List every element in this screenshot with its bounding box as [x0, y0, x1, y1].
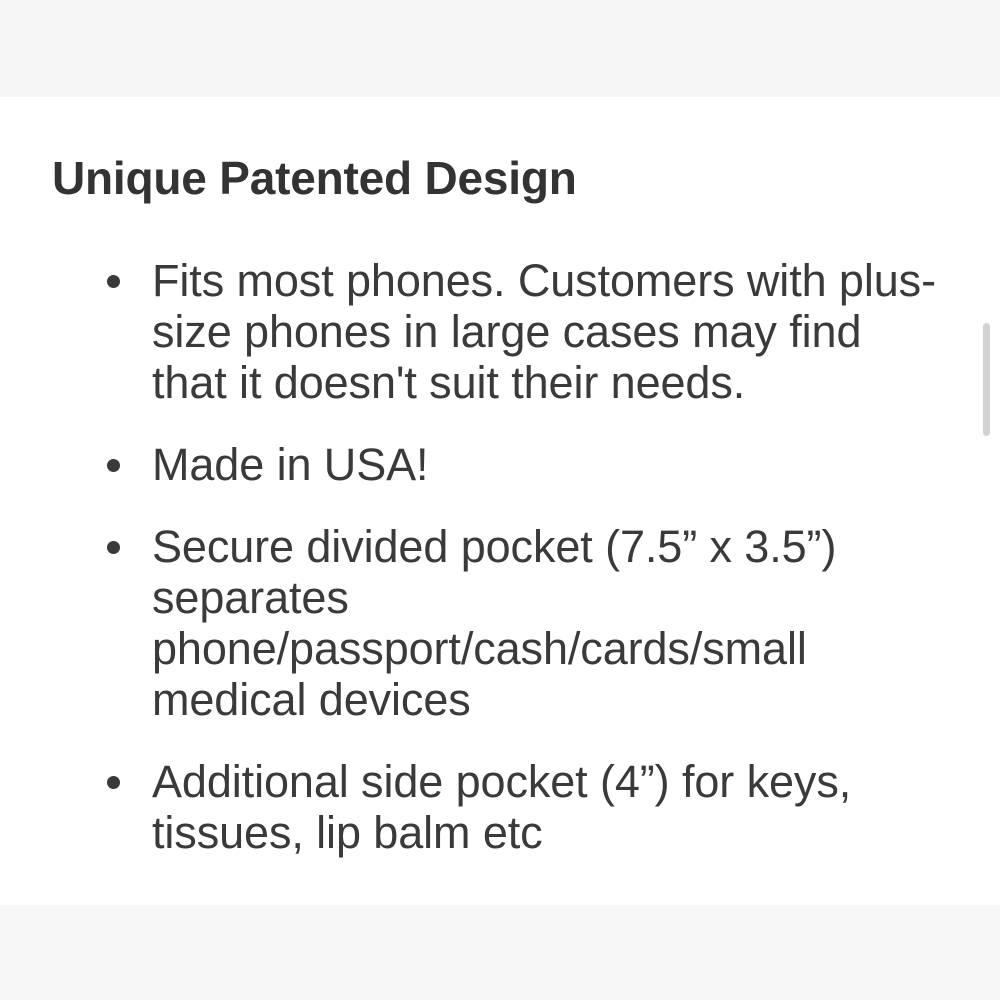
- bullet-dot-icon: [107, 275, 120, 288]
- content-card: Unique Patented Design Fits most phones.…: [0, 97, 1000, 905]
- list-item: Fits most phones. Customers with plus-si…: [96, 255, 942, 408]
- list-item-text: Secure divided pocket (7.5” x 3.5”) sepa…: [152, 521, 836, 725]
- list-item-text: Fits most phones. Customers with plus-si…: [152, 255, 936, 408]
- page-root: Unique Patented Design Fits most phones.…: [0, 0, 1000, 1000]
- top-background-band: [0, 0, 1000, 97]
- list-item: Made in USA!: [96, 439, 942, 490]
- list-item: Additional side pocket (4”) for keys, ti…: [96, 756, 942, 858]
- bullet-dot-icon: [107, 541, 120, 554]
- vertical-scrollbar[interactable]: [981, 97, 993, 905]
- list-item-text: Made in USA!: [152, 439, 428, 490]
- scrollbar-thumb[interactable]: [983, 323, 990, 436]
- list-item: Secure divided pocket (7.5” x 3.5”) sepa…: [96, 521, 942, 725]
- bottom-background-band: [0, 905, 1000, 1000]
- feature-bullet-list: Fits most phones. Customers with plus-si…: [96, 255, 956, 858]
- list-item-text: Additional side pocket (4”) for keys, ti…: [152, 756, 851, 858]
- bullet-dot-icon: [107, 776, 120, 789]
- page-title: Unique Patented Design: [52, 155, 577, 201]
- bullet-dot-icon: [107, 459, 120, 472]
